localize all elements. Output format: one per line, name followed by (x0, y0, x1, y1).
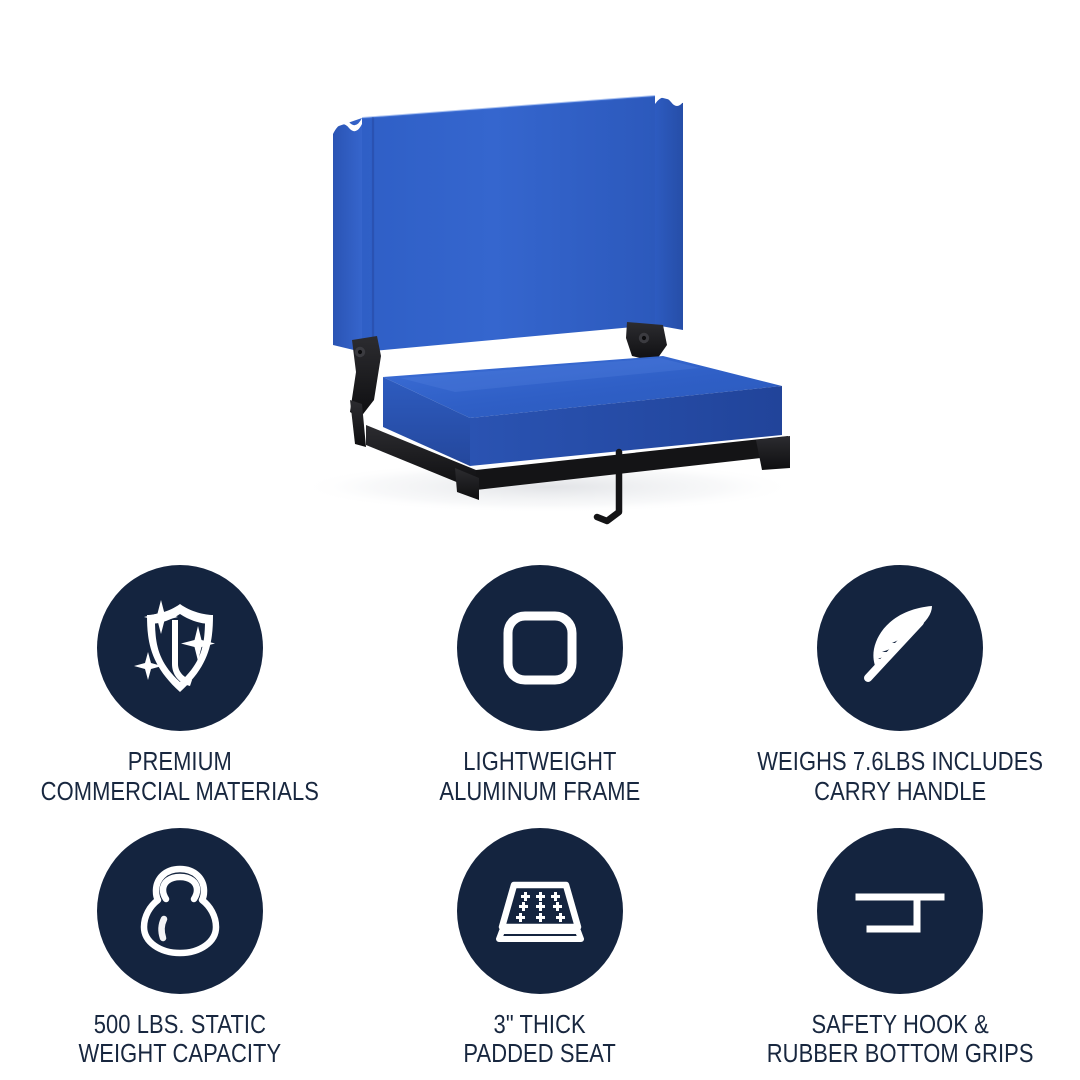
safety-hook-icon (817, 828, 983, 994)
feature-label: WEIGHS 7.6LBS INCLUDES CARRY HANDLE (757, 748, 1043, 807)
hinge-pivot-right-center (642, 336, 646, 340)
shield-sparkle-icon (97, 565, 263, 731)
feature-item-weight-capacity: 500 LBS. STATIC WEIGHT CAPACITY (0, 818, 360, 1080)
feature-label-line-2: WEIGHT CAPACITY (79, 1040, 282, 1070)
frame-foot-right (756, 436, 790, 470)
feature-label: LIGHTWEIGHT ALUMINUM FRAME (439, 748, 640, 807)
feature-label-line-1: 500 LBS. STATIC (79, 1011, 282, 1041)
feature-label-line-2: RUBBER BOTTOM GRIPS (767, 1040, 1034, 1070)
feature-label: SAFETY HOOK & RUBBER BOTTOM GRIPS (767, 1011, 1034, 1070)
feature-item-safety-hook: SAFETY HOOK & RUBBER BOTTOM GRIPS (720, 818, 1080, 1080)
tufting-marks (516, 892, 565, 922)
backrest-right-wing (655, 96, 683, 330)
feature-item-weight-carry-handle: WEIGHS 7.6LBS INCLUDES CARRY HANDLE (720, 555, 1080, 818)
feature-label-line-1: PREMIUM (41, 748, 319, 778)
feature-item-aluminum-frame: LIGHTWEIGHT ALUMINUM FRAME (360, 555, 720, 818)
feature-label-line-1: LIGHTWEIGHT (439, 748, 640, 778)
feature-label-line-2: COMMERCIAL MATERIALS (41, 778, 319, 808)
hinge-pivot-left-center (358, 350, 362, 354)
feature-label-line-2: CARRY HANDLE (757, 778, 1043, 808)
feather-icon (817, 565, 983, 731)
product-image (0, 0, 1080, 560)
rounded-square-frame-icon (457, 565, 623, 731)
feature-item-premium-materials: PREMIUM COMMERCIAL MATERIALS (0, 555, 360, 818)
feature-label-line-2: ALUMINUM FRAME (439, 778, 640, 808)
feature-label: 3" THICK PADDED SEAT (464, 1011, 616, 1070)
stadium-chair-illustration (0, 0, 1080, 560)
kettlebell-icon (97, 828, 263, 994)
feature-item-padded-seat: 3" THICK PADDED SEAT (360, 818, 720, 1080)
padded-cushion-icon (457, 828, 623, 994)
backrest-panel (362, 96, 655, 352)
feature-label-line-1: 3" THICK (464, 1011, 616, 1041)
feature-grid: PREMIUM COMMERCIAL MATERIALS LIGHTWEIGHT… (0, 555, 1080, 1080)
feature-label: PREMIUM COMMERCIAL MATERIALS (41, 748, 319, 807)
backrest-left-wing (333, 118, 362, 352)
feature-label-line-2: PADDED SEAT (464, 1040, 616, 1070)
feature-label-line-1: WEIGHS 7.6LBS INCLUDES (757, 748, 1043, 778)
feature-label: 500 LBS. STATIC WEIGHT CAPACITY (79, 1011, 282, 1070)
feature-label-line-1: SAFETY HOOK & (767, 1011, 1034, 1041)
